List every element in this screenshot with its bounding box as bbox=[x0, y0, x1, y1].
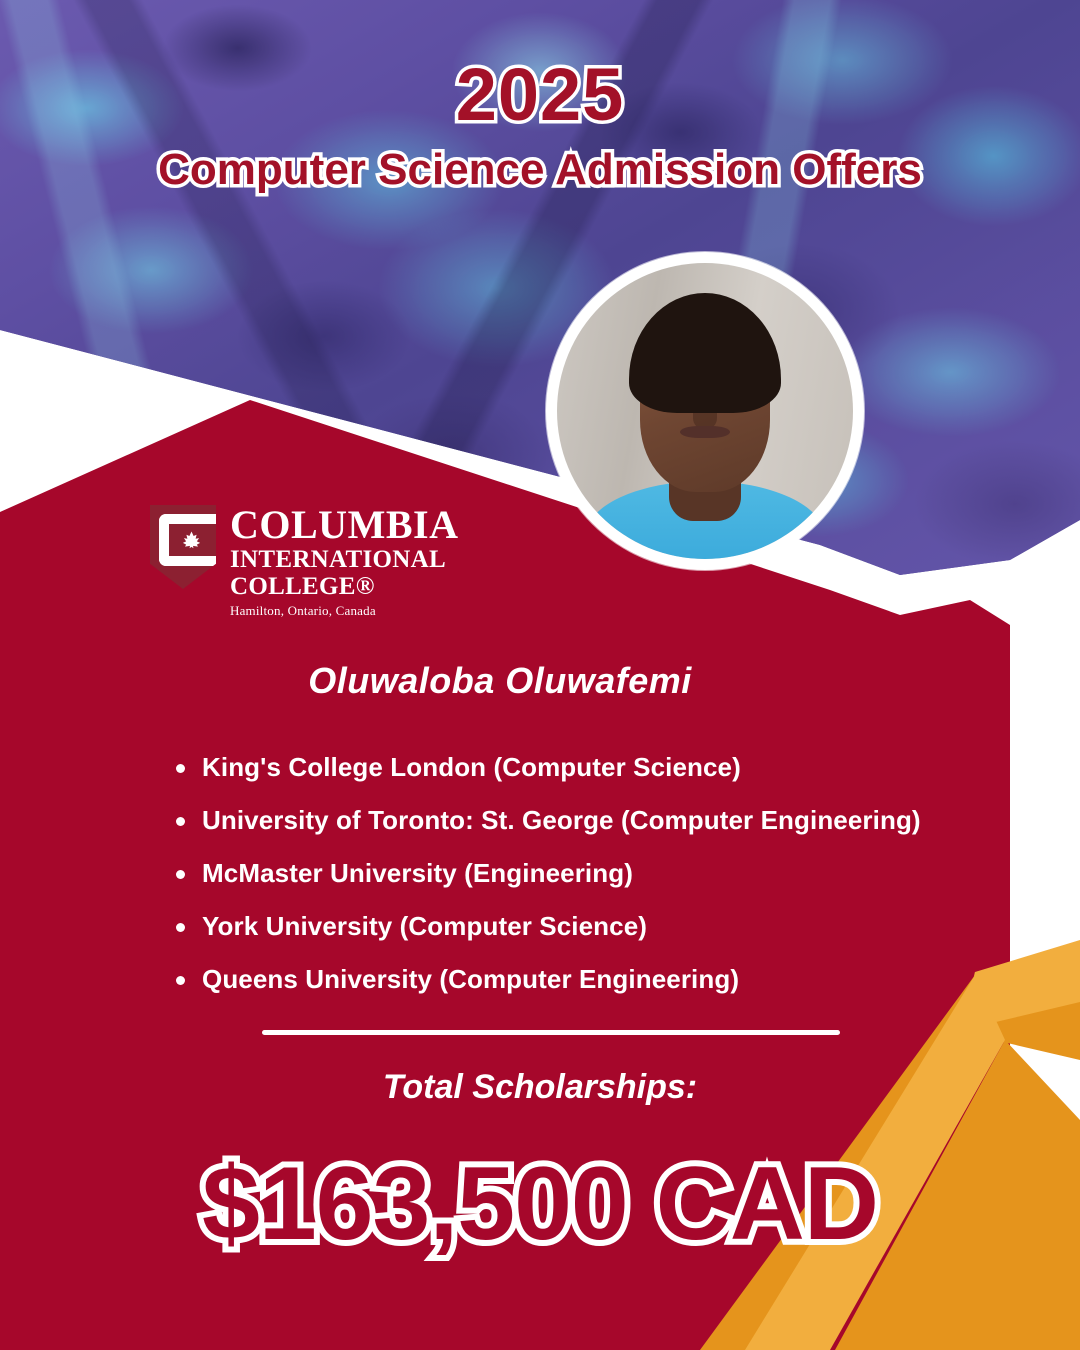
list-item: King's College London (Computer Science) bbox=[170, 752, 921, 783]
poster-root: 2025 Computer Science Admission Offers bbox=[0, 0, 1080, 1350]
college-logo: COLUMBIA INTERNATIONAL COLLEGE® Hamilton… bbox=[150, 505, 458, 617]
shield-icon bbox=[150, 505, 216, 589]
logo-line-international: INTERNATIONAL bbox=[230, 547, 458, 572]
portrait-hair bbox=[629, 293, 781, 413]
total-scholarships-label: Total Scholarships: bbox=[0, 1068, 1080, 1107]
logo-wordmark: COLUMBIA INTERNATIONAL COLLEGE® Hamilton… bbox=[230, 505, 458, 617]
list-item: McMaster University (Engineering) bbox=[170, 858, 921, 889]
header-year: 2025 bbox=[0, 58, 1080, 132]
section-divider bbox=[262, 1030, 840, 1035]
header-text-block: 2025 Computer Science Admission Offers bbox=[0, 58, 1080, 194]
list-item: Queens University (Computer Engineering) bbox=[170, 964, 921, 995]
admission-offers-list: King's College London (Computer Science)… bbox=[170, 752, 921, 1017]
student-name: Oluwaloba Oluwafemi bbox=[0, 660, 1000, 702]
header-subtitle: Computer Science Admission Offers bbox=[0, 146, 1080, 194]
logo-line-location: Hamilton, Ontario, Canada bbox=[230, 604, 458, 617]
student-portrait-image bbox=[557, 263, 853, 559]
list-item: University of Toronto: St. George (Compu… bbox=[170, 805, 921, 836]
logo-line-college: COLLEGE® bbox=[230, 574, 458, 599]
total-scholarships-amount: $163,500 CAD bbox=[0, 1150, 1080, 1259]
logo-line-columbia: COLUMBIA bbox=[230, 505, 458, 545]
maple-leaf-icon bbox=[180, 531, 203, 557]
student-portrait-circle bbox=[546, 252, 864, 570]
list-item: York University (Computer Science) bbox=[170, 911, 921, 942]
portrait-mouth bbox=[680, 426, 730, 438]
